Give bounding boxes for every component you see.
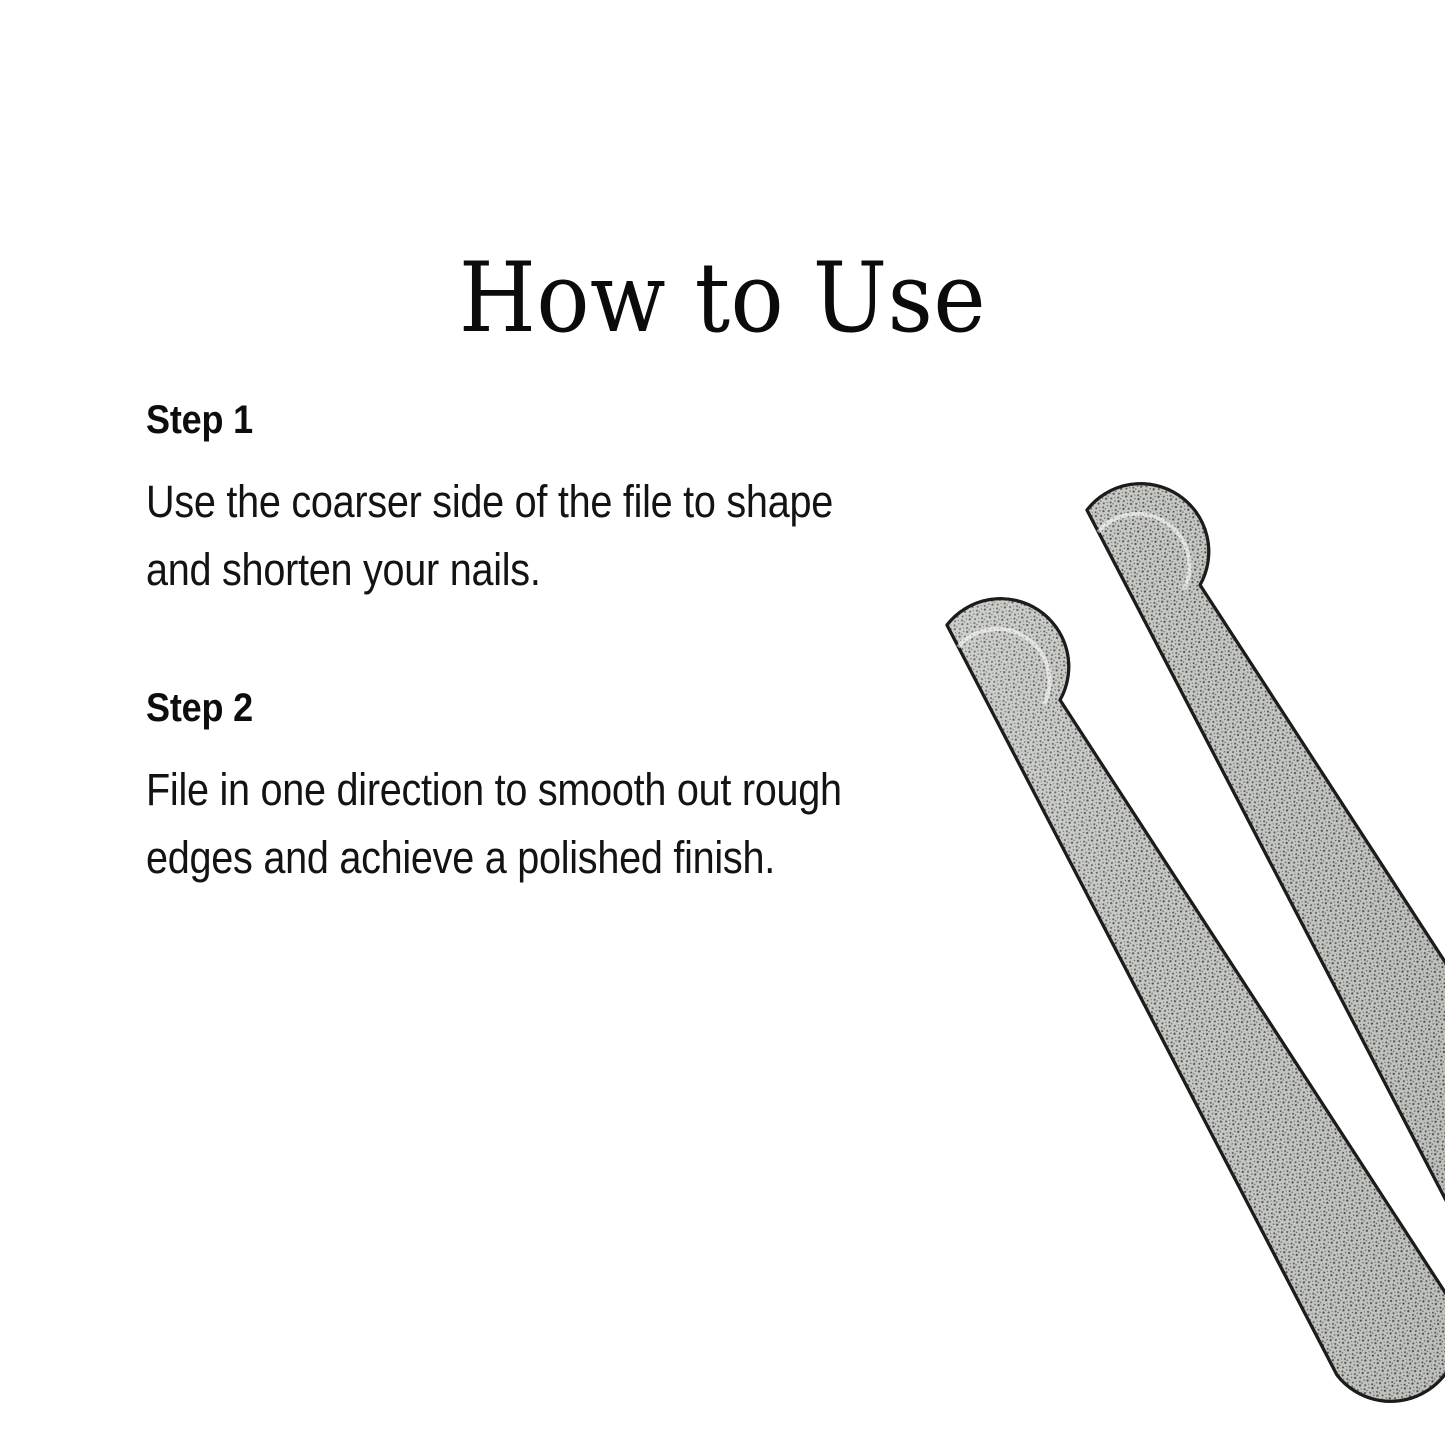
step-1-body: Use the coarser side of the file to shap… xyxy=(146,468,903,604)
step-1-heading: Step 1 xyxy=(146,396,830,444)
step-2-heading: Step 2 xyxy=(146,684,830,732)
step-2-body: File in one direction to smooth out roug… xyxy=(146,756,903,892)
nail-file-illustration xyxy=(830,440,1445,1320)
step-item-2: Step 2 File in one direction to smooth o… xyxy=(146,684,906,892)
step-item-1: Step 1 Use the coarser side of the file … xyxy=(146,396,906,604)
product-instruction-card: How to Use Step 1 Use the coarser side o… xyxy=(0,0,1445,1445)
steps-list: Step 1 Use the coarser side of the file … xyxy=(146,396,906,892)
page-title: How to Use xyxy=(58,250,1387,346)
